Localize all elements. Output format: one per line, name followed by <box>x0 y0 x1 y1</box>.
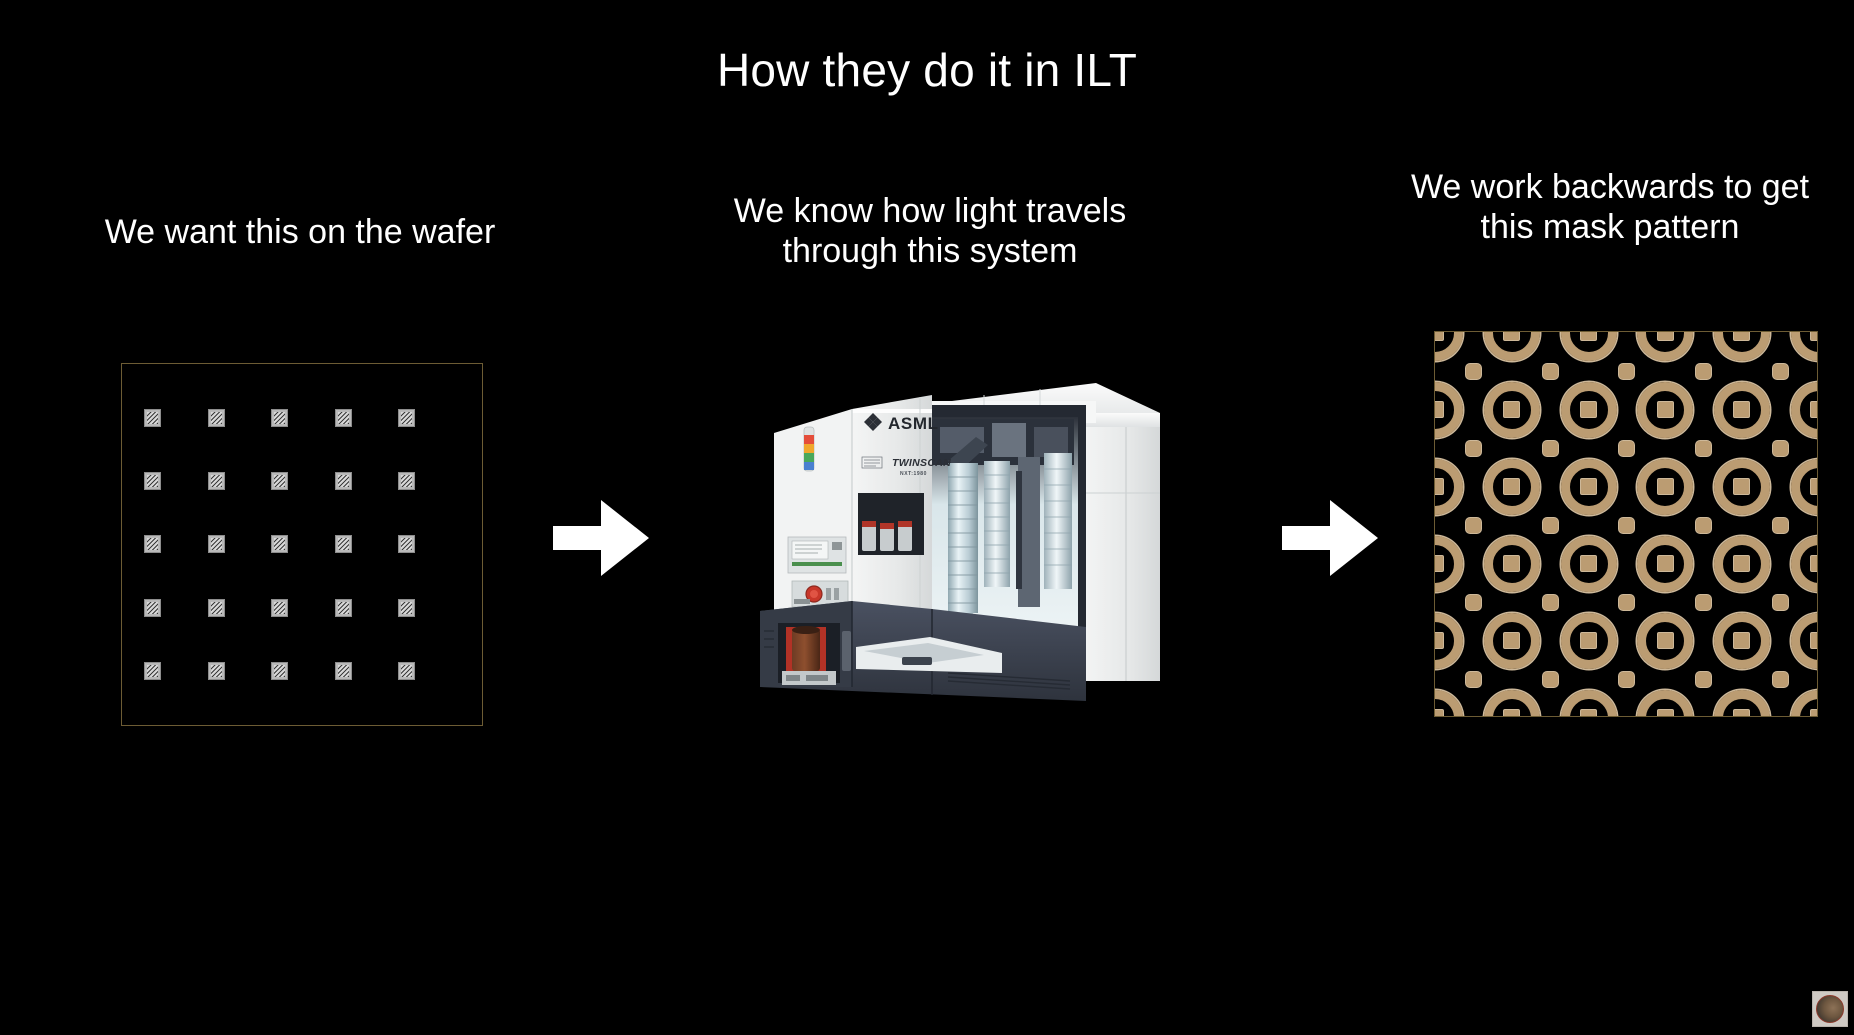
svg-text:NXT:1980: NXT:1980 <box>900 471 927 477</box>
wafer-feature-icon <box>398 599 415 617</box>
mask-core-icon <box>1581 556 1596 571</box>
mask-cell <box>1474 525 1551 602</box>
ilt-mask-figure <box>1434 331 1818 717</box>
mask-core-icon <box>1734 710 1749 717</box>
wafer-cell <box>144 576 208 639</box>
wafer-cell <box>144 449 208 512</box>
mask-cell <box>1780 371 1818 448</box>
mask-cell <box>1627 602 1704 679</box>
wafer-cell <box>208 576 272 639</box>
caption-mask: We work backwards to get this mask patte… <box>1410 168 1810 248</box>
wafer-cell <box>208 449 272 512</box>
wafer-cell <box>271 640 335 703</box>
lithography-scanner-figure: ASML TWINSCAN NXT:1980 <box>752 365 1164 735</box>
wafer-feature-icon <box>271 662 288 680</box>
avatar <box>1816 995 1844 1023</box>
mask-cell <box>1434 602 1474 679</box>
mask-core-icon <box>1504 556 1519 571</box>
caption-optics: We know how light travels through this s… <box>690 192 1170 272</box>
mask-core-icon <box>1581 331 1596 340</box>
wafer-target-figure <box>121 363 483 726</box>
mask-cell <box>1474 448 1551 525</box>
mask-cell <box>1434 679 1474 717</box>
mask-core-icon <box>1658 710 1673 717</box>
mask-cell <box>1550 602 1627 679</box>
wafer-feature-icon <box>271 472 288 490</box>
mask-cell <box>1474 371 1551 448</box>
mask-core-icon <box>1504 479 1519 494</box>
mask-core-icon <box>1734 479 1749 494</box>
mask-core-icon <box>1658 402 1673 417</box>
mask-core-icon <box>1581 633 1596 648</box>
mask-core-icon <box>1581 402 1596 417</box>
mask-core-icon <box>1734 331 1749 340</box>
wafer-cell <box>335 513 399 576</box>
mask-cell <box>1550 371 1627 448</box>
wafer-cell <box>335 386 399 449</box>
mask-core-icon <box>1811 633 1818 648</box>
mask-cell <box>1474 331 1551 371</box>
wafer-feature-icon <box>208 662 225 680</box>
mask-core-icon <box>1504 331 1519 340</box>
page-title: How they do it in ILT <box>0 45 1854 96</box>
mask-core-icon <box>1658 556 1673 571</box>
wafer-feature-icon <box>144 662 161 680</box>
mask-core-icon <box>1434 710 1443 717</box>
mask-core-icon <box>1504 402 1519 417</box>
mask-cell <box>1780 602 1818 679</box>
wafer-cell <box>208 386 272 449</box>
wafer-feature-icon <box>208 535 225 553</box>
wafer-cell <box>335 576 399 639</box>
wafer-feature-icon <box>335 472 352 490</box>
mask-cell <box>1704 371 1781 448</box>
arrow-right-icon <box>1282 500 1378 576</box>
wafer-cell <box>398 640 462 703</box>
wafer-feature-icon <box>271 409 288 427</box>
mask-cell <box>1550 331 1627 371</box>
mask-cell <box>1704 525 1781 602</box>
wafer-cell <box>144 386 208 449</box>
mask-cell <box>1550 448 1627 525</box>
mask-motif-grid <box>1434 331 1818 717</box>
mask-core-icon <box>1658 479 1673 494</box>
wafer-feature-icon <box>144 535 161 553</box>
mask-cell <box>1434 371 1474 448</box>
mask-core-icon <box>1434 331 1443 340</box>
mask-cell <box>1434 331 1474 371</box>
mask-core-icon <box>1658 633 1673 648</box>
wafer-cell <box>398 576 462 639</box>
wafer-feature-icon <box>271 599 288 617</box>
wafer-feature-icon <box>398 472 415 490</box>
wafer-cell <box>144 640 208 703</box>
mask-cell <box>1434 448 1474 525</box>
wafer-feature-icon <box>208 409 225 427</box>
mask-core-icon <box>1811 556 1818 571</box>
wafer-cell <box>271 386 335 449</box>
mask-core-icon <box>1811 331 1818 340</box>
wafer-cell <box>208 513 272 576</box>
mask-core-icon <box>1581 479 1596 494</box>
wafer-feature-icon <box>208 599 225 617</box>
mask-core-icon <box>1434 556 1443 571</box>
wafer-feature-icon <box>208 472 225 490</box>
wafer-feature-icon <box>335 535 352 553</box>
wafer-feature-icon <box>271 535 288 553</box>
svg-text:ASML: ASML <box>888 414 939 433</box>
mask-core-icon <box>1434 633 1443 648</box>
wafer-cell <box>144 513 208 576</box>
mask-core-icon <box>1504 710 1519 717</box>
mask-cell <box>1474 602 1551 679</box>
mask-core-icon <box>1434 479 1443 494</box>
svg-text:TWINSCAN: TWINSCAN <box>892 457 951 469</box>
mask-cell <box>1780 679 1818 717</box>
mask-cell <box>1704 679 1781 717</box>
wafer-cell <box>271 449 335 512</box>
mask-cell <box>1627 371 1704 448</box>
mask-cell <box>1474 679 1551 717</box>
mask-cell <box>1434 525 1474 602</box>
wafer-cell <box>398 513 462 576</box>
mask-cell <box>1627 331 1704 371</box>
wafer-feature-icon <box>335 599 352 617</box>
wafer-feature-icon <box>144 599 161 617</box>
arrow-right-icon <box>553 500 649 576</box>
mask-core-icon <box>1811 402 1818 417</box>
mask-cell <box>1550 679 1627 717</box>
mask-cell <box>1780 331 1818 371</box>
mask-cell <box>1627 448 1704 525</box>
mask-cell <box>1780 525 1818 602</box>
wafer-cell <box>335 640 399 703</box>
mask-cell <box>1704 602 1781 679</box>
mask-core-icon <box>1504 633 1519 648</box>
mask-cell <box>1627 525 1704 602</box>
wafer-cell <box>271 513 335 576</box>
mask-core-icon <box>1434 402 1443 417</box>
mask-cell <box>1550 525 1627 602</box>
mask-core-icon <box>1811 479 1818 494</box>
wafer-cell <box>398 386 462 449</box>
caption-target: We want this on the wafer <box>40 213 560 253</box>
wafer-feature-icon <box>398 535 415 553</box>
mask-core-icon <box>1734 633 1749 648</box>
mask-core-icon <box>1734 556 1749 571</box>
wafer-feature-icon <box>398 662 415 680</box>
wafer-feature-icon <box>144 409 161 427</box>
wafer-feature-grid <box>122 364 482 725</box>
mask-cell <box>1704 448 1781 525</box>
wafer-feature-icon <box>398 409 415 427</box>
participant-video-thumbnail[interactable] <box>1812 991 1848 1027</box>
wafer-cell <box>335 449 399 512</box>
wafer-cell <box>398 449 462 512</box>
mask-cell <box>1627 679 1704 717</box>
wafer-feature-icon <box>335 409 352 427</box>
wafer-feature-icon <box>335 662 352 680</box>
mask-cell <box>1780 448 1818 525</box>
mask-cell <box>1704 331 1781 371</box>
mask-core-icon <box>1581 710 1596 717</box>
mask-core-icon <box>1811 710 1818 717</box>
mask-core-icon <box>1734 402 1749 417</box>
mask-core-icon <box>1658 331 1673 340</box>
wafer-feature-icon <box>144 472 161 490</box>
wafer-cell <box>208 640 272 703</box>
wafer-cell <box>271 576 335 639</box>
